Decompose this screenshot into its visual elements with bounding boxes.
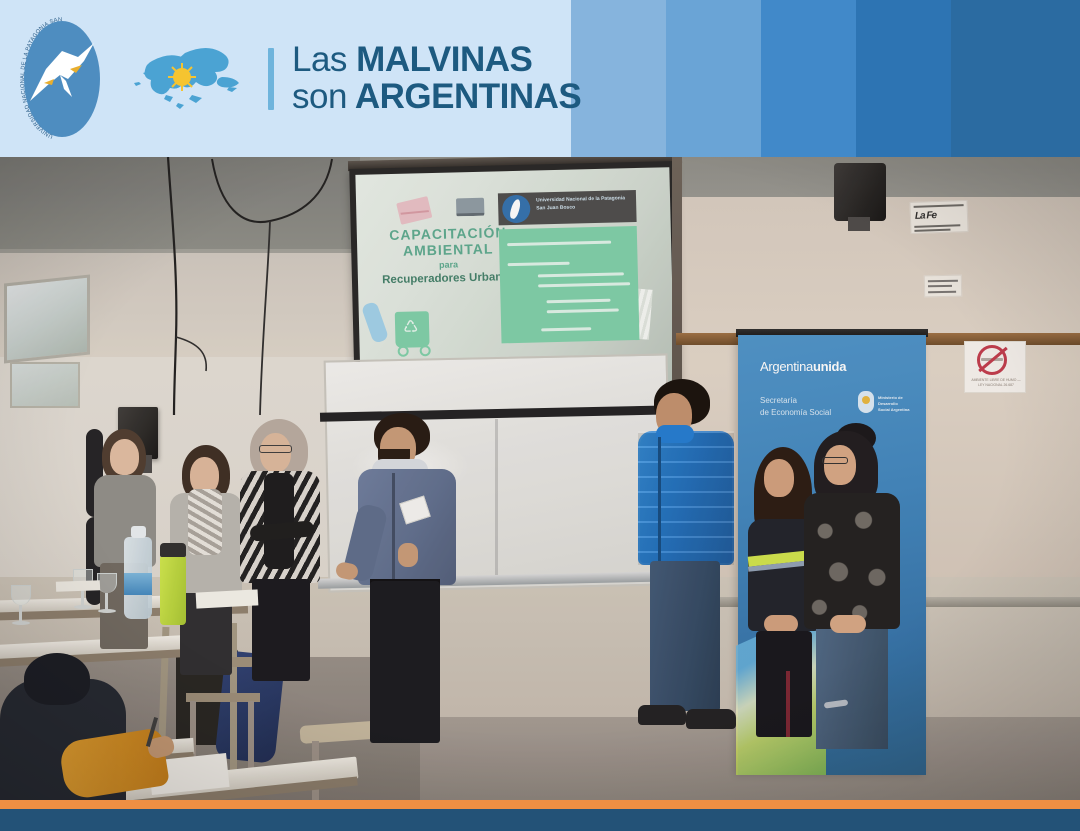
banner-brand-bold: unida [813,359,846,374]
footer-accent-stripe [0,800,1080,809]
page-header: UNIVERSIDAD NACIONAL DE LA PATAGONIA SAN… [0,0,1080,157]
header-content: UNIVERSIDAD NACIONAL DE LA PATAGONIA SAN… [0,0,581,157]
eyeglasses-icon [259,445,292,453]
wine-glass-3 [10,585,32,625]
wall-poster-bottom [924,275,962,298]
header-band-5 [951,0,1080,157]
banner-subtitle-line1: Secretaría [760,395,831,407]
green-thermos [160,555,186,625]
banner-subtitle: Secretaría de Economía Social [760,395,831,418]
poster-logo-icon: La Fe [915,210,936,222]
event-photograph: CAPACITACIÓN AMBIENTAL para Recuperadore… [0,157,1080,802]
bin-wheel-right-icon [420,345,431,356]
slogan-line2-bold: ARGENTINAS [355,77,581,116]
slogan-line-2: son ARGENTINAS [292,79,581,115]
person-woman-patterned-jacket [800,429,904,749]
envelope-icon [396,196,432,225]
slide-header-bar: Universidad Nacional de la Patagonia San… [498,190,637,225]
speaker-right-bracket [848,217,870,231]
header-band-4 [856,0,951,157]
bin-wheel-left-icon [398,346,409,357]
papers-rear [56,580,100,592]
slogan-line2-thin: son [292,77,347,116]
no-smoking-sign: AMBIENTE LIBRE DE HUMO — LEY NACIONAL 26… [964,341,1026,393]
footer-bar [0,809,1080,831]
eyeglasses-icon-2 [822,457,848,464]
banner-subtitle-line2: de Economía Social [760,407,831,419]
malvinas-islands-map-icon [130,43,248,115]
papers-on-table [196,589,259,608]
university-seal-icon: UNIVERSIDAD NACIONAL DE LA PATAGONIA SAN… [16,13,108,145]
whiteboard-seam [495,419,498,575]
water-bottle [124,537,152,619]
laptop-icon [456,198,484,217]
header-band-3 [761,0,856,157]
wall-poster-top: La Fe [909,200,968,234]
slogan-line-1: Las MALVINAS [292,42,581,78]
person-man-speaking [350,413,462,743]
header-slogan: Las MALVINAS son ARGENTINAS [292,42,581,114]
slide-content-panel [499,226,640,343]
slide-university-seal-icon [502,195,531,224]
person-writing-foreground [0,641,150,802]
person-man-blue-puffer [634,379,744,739]
window-lower-pane [10,362,80,408]
wall-speaker-right-icon [834,163,886,221]
slogan-line1-thin: Las [292,40,347,79]
recycling-bin-icon [395,311,430,348]
banner-brand: Argentinaunida [760,359,846,374]
header-divider [268,48,274,110]
banner-brand-thin: Argentina [760,359,813,374]
header-band-2 [666,0,761,157]
slide-header-text: Universidad Nacional de la Patagonia San… [536,195,632,212]
header-band-1 [571,0,666,157]
plastic-bottle-icon [361,301,389,344]
window [4,274,90,363]
no-smoking-caption: AMBIENTE LIBRE DE HUMO — LEY NACIONAL 26… [971,378,1021,388]
person-woman-with-glasses [236,419,328,681]
slogan-line1-bold: MALVINAS [356,40,532,79]
argentina-government-emblem-icon: Ministerio de Desarrollo Social Argentin… [858,391,910,415]
